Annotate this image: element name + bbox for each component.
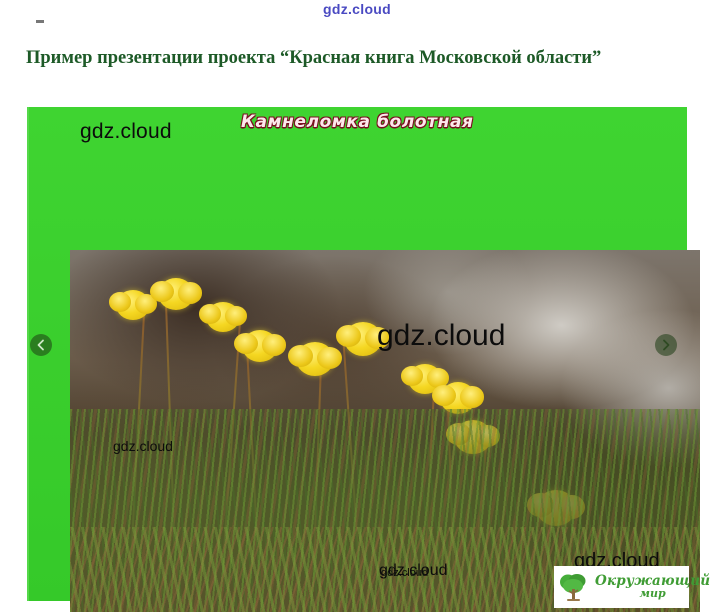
flower-blossom <box>242 330 278 362</box>
flower-blossom <box>116 290 150 320</box>
tree-icon <box>557 570 591 604</box>
brand-logo-line-1: Окружающий <box>595 574 710 588</box>
page-root: gdz.cloud Пример презентации проекта “Кр… <box>0 0 714 612</box>
stray-dash-mark <box>36 20 44 23</box>
brand-logo-line-2: мир <box>595 588 710 600</box>
slide-frame: gdz.cloud gdz.cloud gdz.cloud gdz.cloud … <box>27 107 687 601</box>
chevron-left-icon <box>35 339 47 351</box>
carousel-next-button[interactable] <box>655 334 677 356</box>
flower-blossom <box>158 278 194 310</box>
plant-photo: gdz.cloud gdz.cloud gdz.cloud gdz.cloud … <box>70 250 700 612</box>
page-title: Пример презентации проекта “Красная книг… <box>26 46 656 71</box>
flower-blossom <box>296 342 334 376</box>
carousel-prev-button[interactable] <box>30 334 52 356</box>
flower-blossom <box>344 322 382 356</box>
brand-logo[interactable]: Окружающий мир <box>554 566 689 608</box>
chevron-right-icon <box>660 339 672 351</box>
watermark-top: gdz.cloud <box>0 1 714 17</box>
slide-caption: Камнеломка болотная <box>241 112 474 132</box>
brand-logo-text: Окружающий мир <box>595 574 710 600</box>
flower-blossom <box>206 302 240 332</box>
